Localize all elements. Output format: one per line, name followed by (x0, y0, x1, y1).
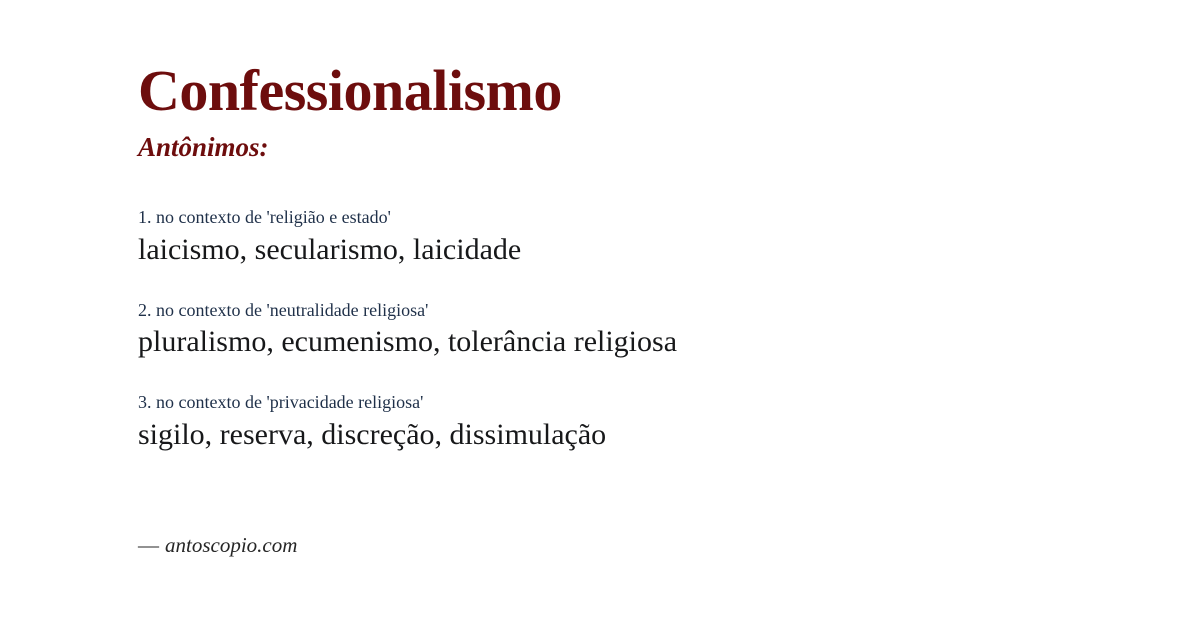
antonyms-card: Confessionalismo Antônimos: 1. no contex… (0, 0, 1200, 628)
source-attribution: —antoscopio.com (138, 533, 297, 558)
page-title: Confessionalismo (138, 62, 1200, 120)
list-item: 2. no contexto de 'neutralidade religios… (138, 300, 1200, 361)
card-footer: —antoscopio.com (138, 533, 297, 558)
list-item: 3. no contexto de 'privacidade religiosa… (138, 392, 1200, 453)
sense-terms: laicismo, secularismo, laicidade (138, 232, 1200, 268)
em-dash: — (138, 533, 159, 557)
card-header: Confessionalismo Antônimos: (138, 0, 1200, 161)
sense-terms: pluralismo, ecumenismo, tolerância relig… (138, 324, 1200, 360)
section-label-antonyms: Antônimos: (138, 134, 1200, 161)
sense-context-label: 1. no contexto de 'religião e estado' (138, 207, 1200, 228)
source-site-name: antoscopio.com (165, 533, 297, 557)
sense-context-label: 3. no contexto de 'privacidade religiosa… (138, 392, 1200, 413)
sense-list: 1. no contexto de 'religião e estado' la… (138, 207, 1200, 453)
sense-terms: sigilo, reserva, discreção, dissimulação (138, 417, 1200, 453)
sense-context-label: 2. no contexto de 'neutralidade religios… (138, 300, 1200, 321)
list-item: 1. no contexto de 'religião e estado' la… (138, 207, 1200, 268)
